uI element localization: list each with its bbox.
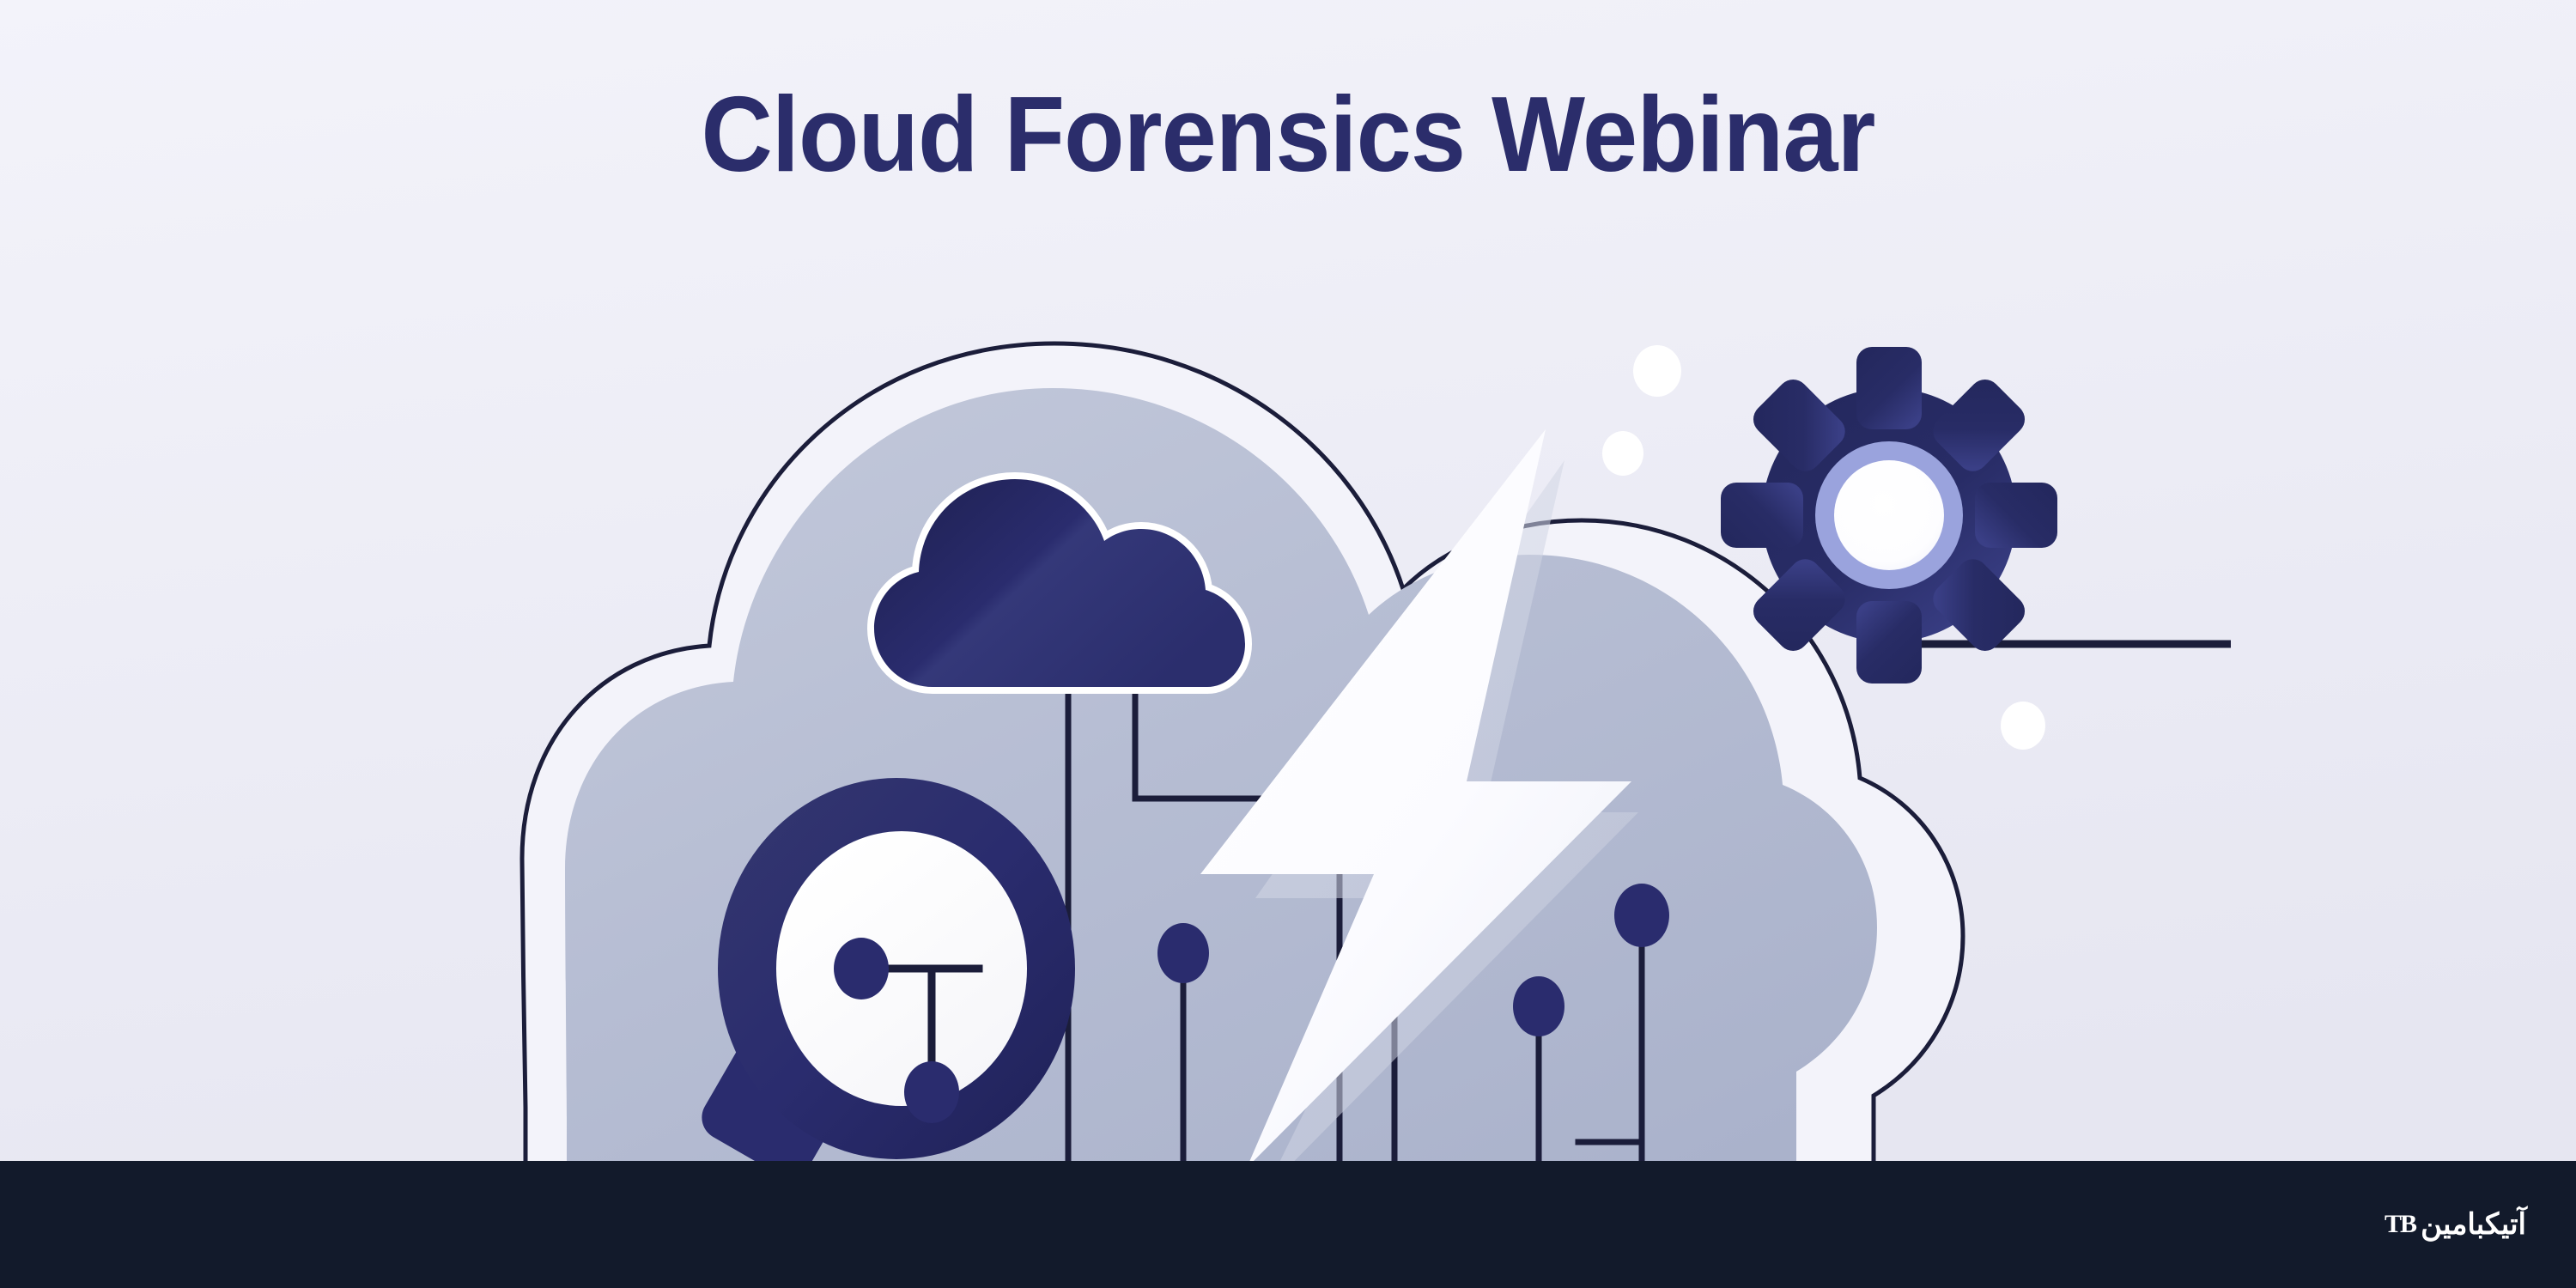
watermark-logo-mark: TB <box>2385 1212 2415 1237</box>
magnifier-node-2 <box>904 1061 959 1123</box>
page-title: Cloud Forensics Webinar <box>90 82 2486 188</box>
white-dot-2 <box>1602 431 1643 476</box>
circuit-node-3 <box>1614 884 1669 947</box>
gear-hole <box>1834 460 1944 570</box>
magnifier-node-1 <box>834 938 889 999</box>
watermark-text: آتیکبامین <box>2421 1210 2526 1239</box>
webinar-banner: Cloud Forensics Webinar آتیکبامین TB <box>0 0 2576 1288</box>
circuit-node-1 <box>1157 923 1209 983</box>
footer-bar: آتیکبامین TB <box>0 1161 2576 1288</box>
watermark: آتیکبامین TB <box>2385 1210 2526 1239</box>
circuit-node-2 <box>1513 976 1564 1036</box>
white-dot-1 <box>1633 345 1681 397</box>
white-dot-3 <box>2001 702 2045 750</box>
